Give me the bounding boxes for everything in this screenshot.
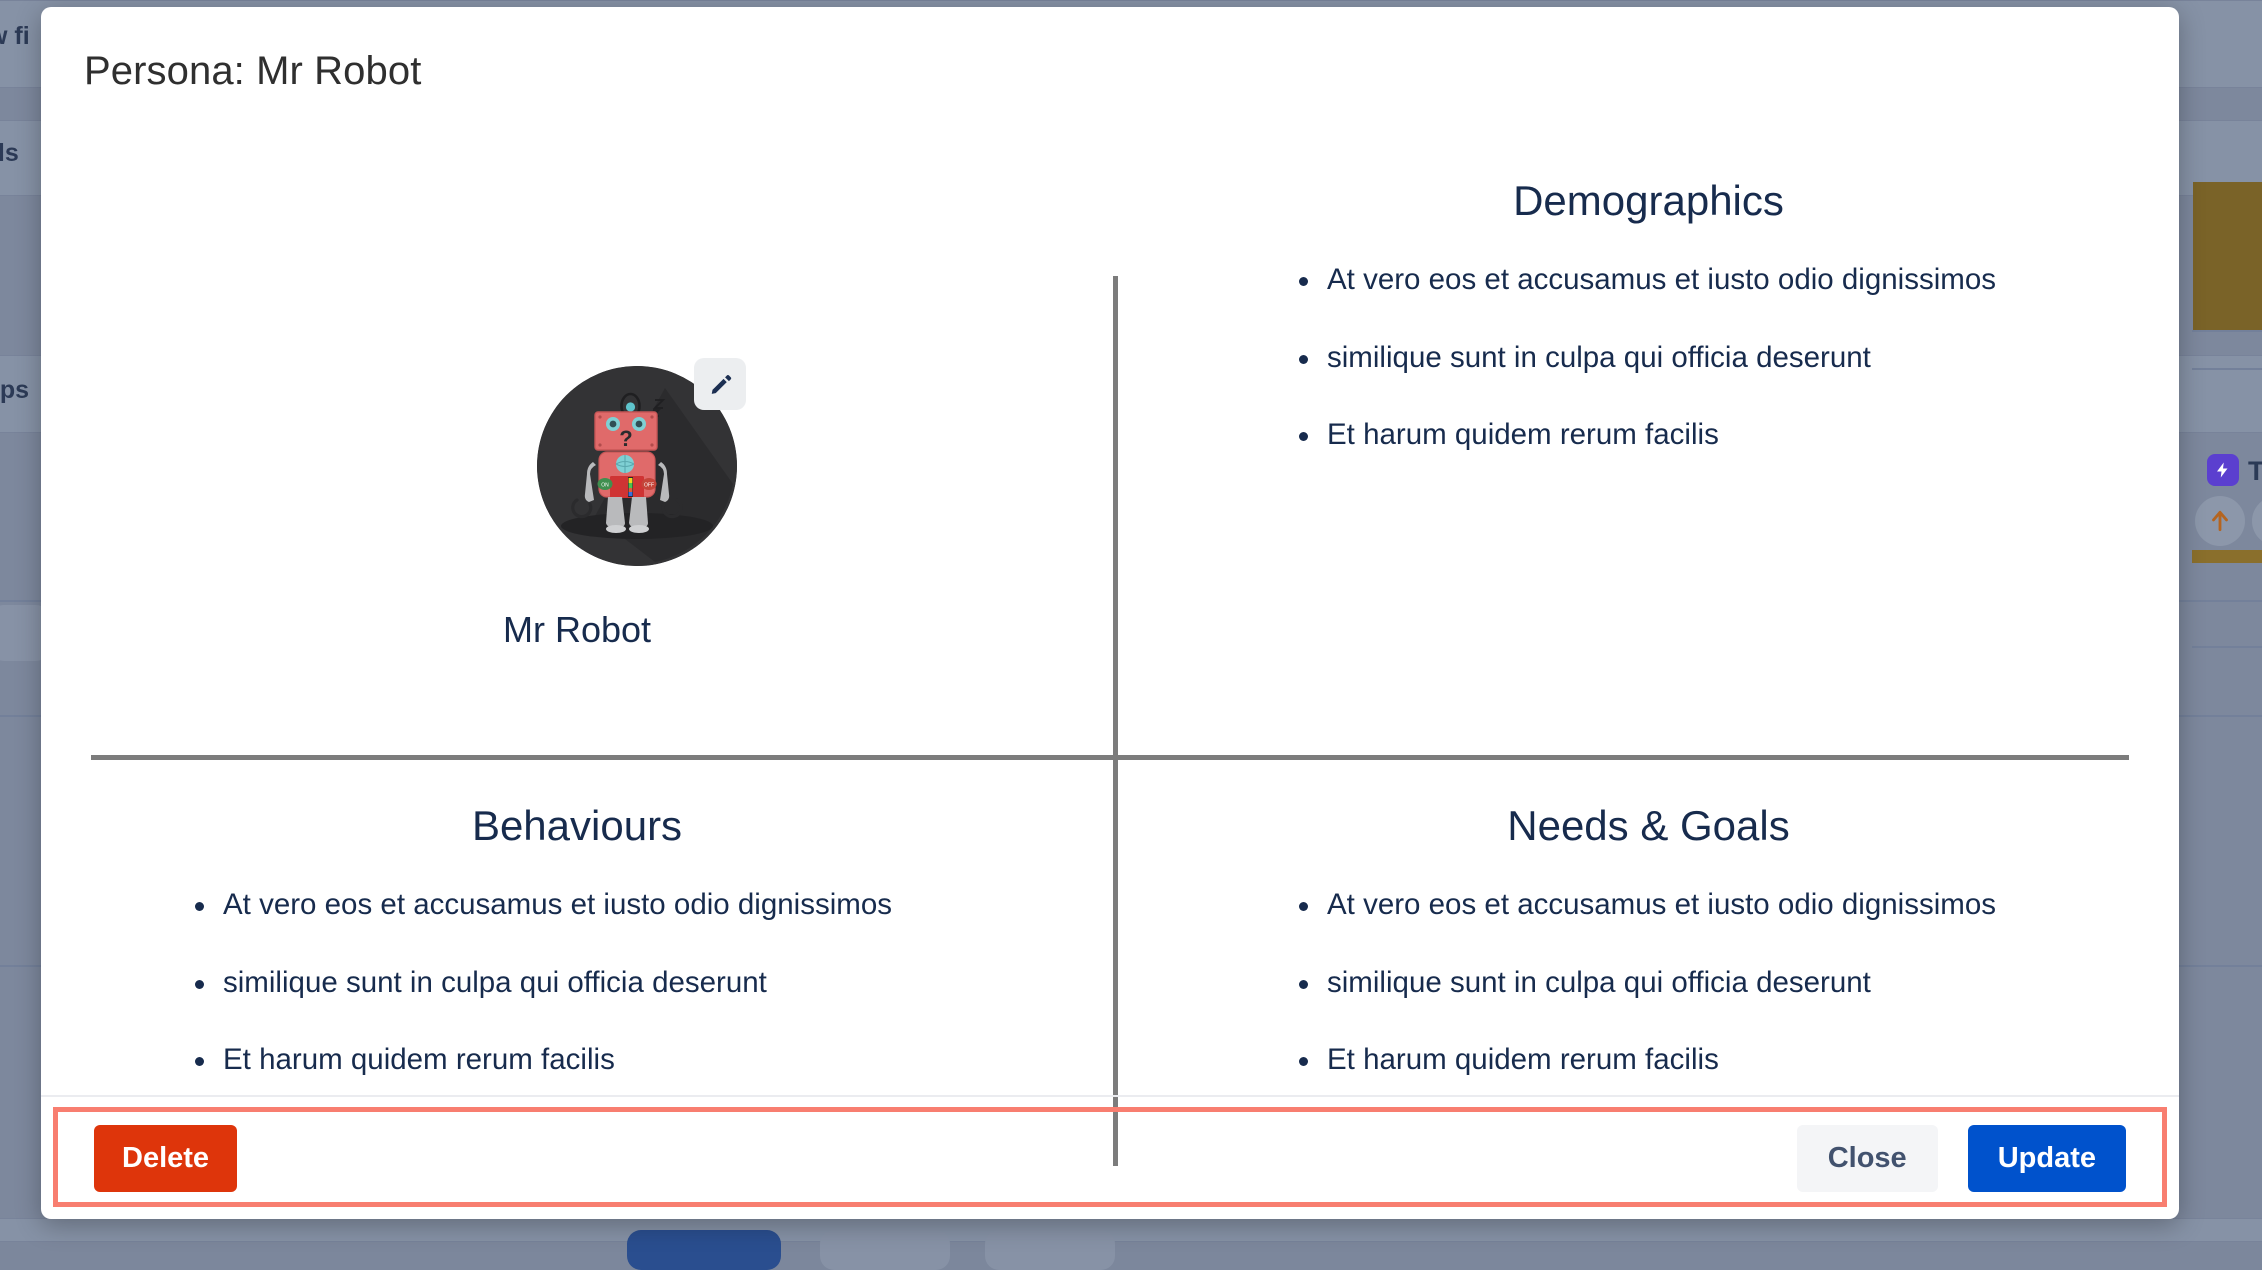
edit-avatar-button[interactable] <box>694 358 746 410</box>
needs-goals-list: At vero eos et accusamus et iusto odio d… <box>1293 890 2179 1075</box>
delete-button[interactable]: Delete <box>94 1125 237 1192</box>
modal-header: Persona: Mr Robot <box>41 7 2179 135</box>
list-item: At vero eos et accusamus et iusto odio d… <box>1293 265 2179 295</box>
bg-divider <box>2192 368 2262 370</box>
bg-arrow-up-button[interactable] <box>2195 496 2245 546</box>
behaviours-title: Behaviours <box>41 802 1113 850</box>
persona-name-label: Mr Robot <box>41 609 1113 651</box>
bg-fragment-text-1: w fi <box>0 22 30 51</box>
demographics-list: At vero eos et accusamus et iusto odio d… <box>1293 265 2179 450</box>
bg-secondary-pill-button[interactable] <box>820 1230 950 1270</box>
svg-text:?: ? <box>619 426 632 451</box>
lightning-bolt-icon <box>2214 461 2232 479</box>
bg-brown-block <box>2193 182 2262 330</box>
list-item: At vero eos et accusamus et iusto odio d… <box>1293 890 2179 920</box>
bg-fragment-text-2: als <box>0 139 19 168</box>
list-item: At vero eos et accusamus et iusto odio d… <box>189 890 1113 920</box>
pencil-icon <box>708 372 733 397</box>
page-title: Persona: Mr Robot <box>84 49 421 94</box>
demographics-title: Demographics <box>1118 177 2179 225</box>
bg-brown-bar <box>2192 550 2262 563</box>
lightning-bolt-badge[interactable] <box>2207 454 2239 486</box>
close-button[interactable]: Close <box>1797 1125 1938 1192</box>
persona-modal: Persona: Mr Robot <box>41 7 2179 1219</box>
demographics-quadrant: Demographics At vero eos et accusamus et… <box>1118 135 2179 755</box>
list-item: Et harum quidem rerum facilis <box>189 1045 1113 1075</box>
update-button[interactable]: Update <box>1968 1125 2126 1192</box>
modal-body: ? ON OF <box>41 135 2179 1095</box>
bg-add-button[interactable] <box>2252 496 2262 546</box>
bg-divider <box>2192 330 2262 332</box>
svg-text:OFF: OFF <box>644 483 654 489</box>
svg-text:ON: ON <box>601 483 609 489</box>
behaviours-list: At vero eos et accusamus et iusto odio d… <box>189 890 1113 1075</box>
bg-secondary-pill-button[interactable] <box>985 1230 1115 1270</box>
footer-actions: Delete Close Update <box>41 1125 2179 1192</box>
persona-avatar-quadrant: ? ON OF <box>41 135 1113 755</box>
bg-divider <box>2192 646 2262 648</box>
list-item: similique sunt in culpa qui officia dese… <box>189 968 1113 998</box>
list-item: Et harum quidem rerum facilis <box>1293 1045 2179 1075</box>
modal-footer: Delete Close Update <box>41 1095 2179 1219</box>
bg-badge-label: TE <box>2248 456 2262 487</box>
needs-goals-title: Needs & Goals <box>1118 802 2179 850</box>
bg-row <box>0 1218 2262 1242</box>
bg-fragment-text-3: eps <box>0 376 29 405</box>
avatar: ? ON OF <box>537 366 737 566</box>
list-item: similique sunt in culpa qui officia dese… <box>1293 343 2179 373</box>
bg-primary-pill-button[interactable] <box>627 1230 781 1270</box>
list-item: similique sunt in culpa qui officia dese… <box>1293 968 2179 998</box>
arrow-up-icon <box>2207 508 2233 534</box>
list-item: Et harum quidem rerum facilis <box>1293 420 2179 450</box>
